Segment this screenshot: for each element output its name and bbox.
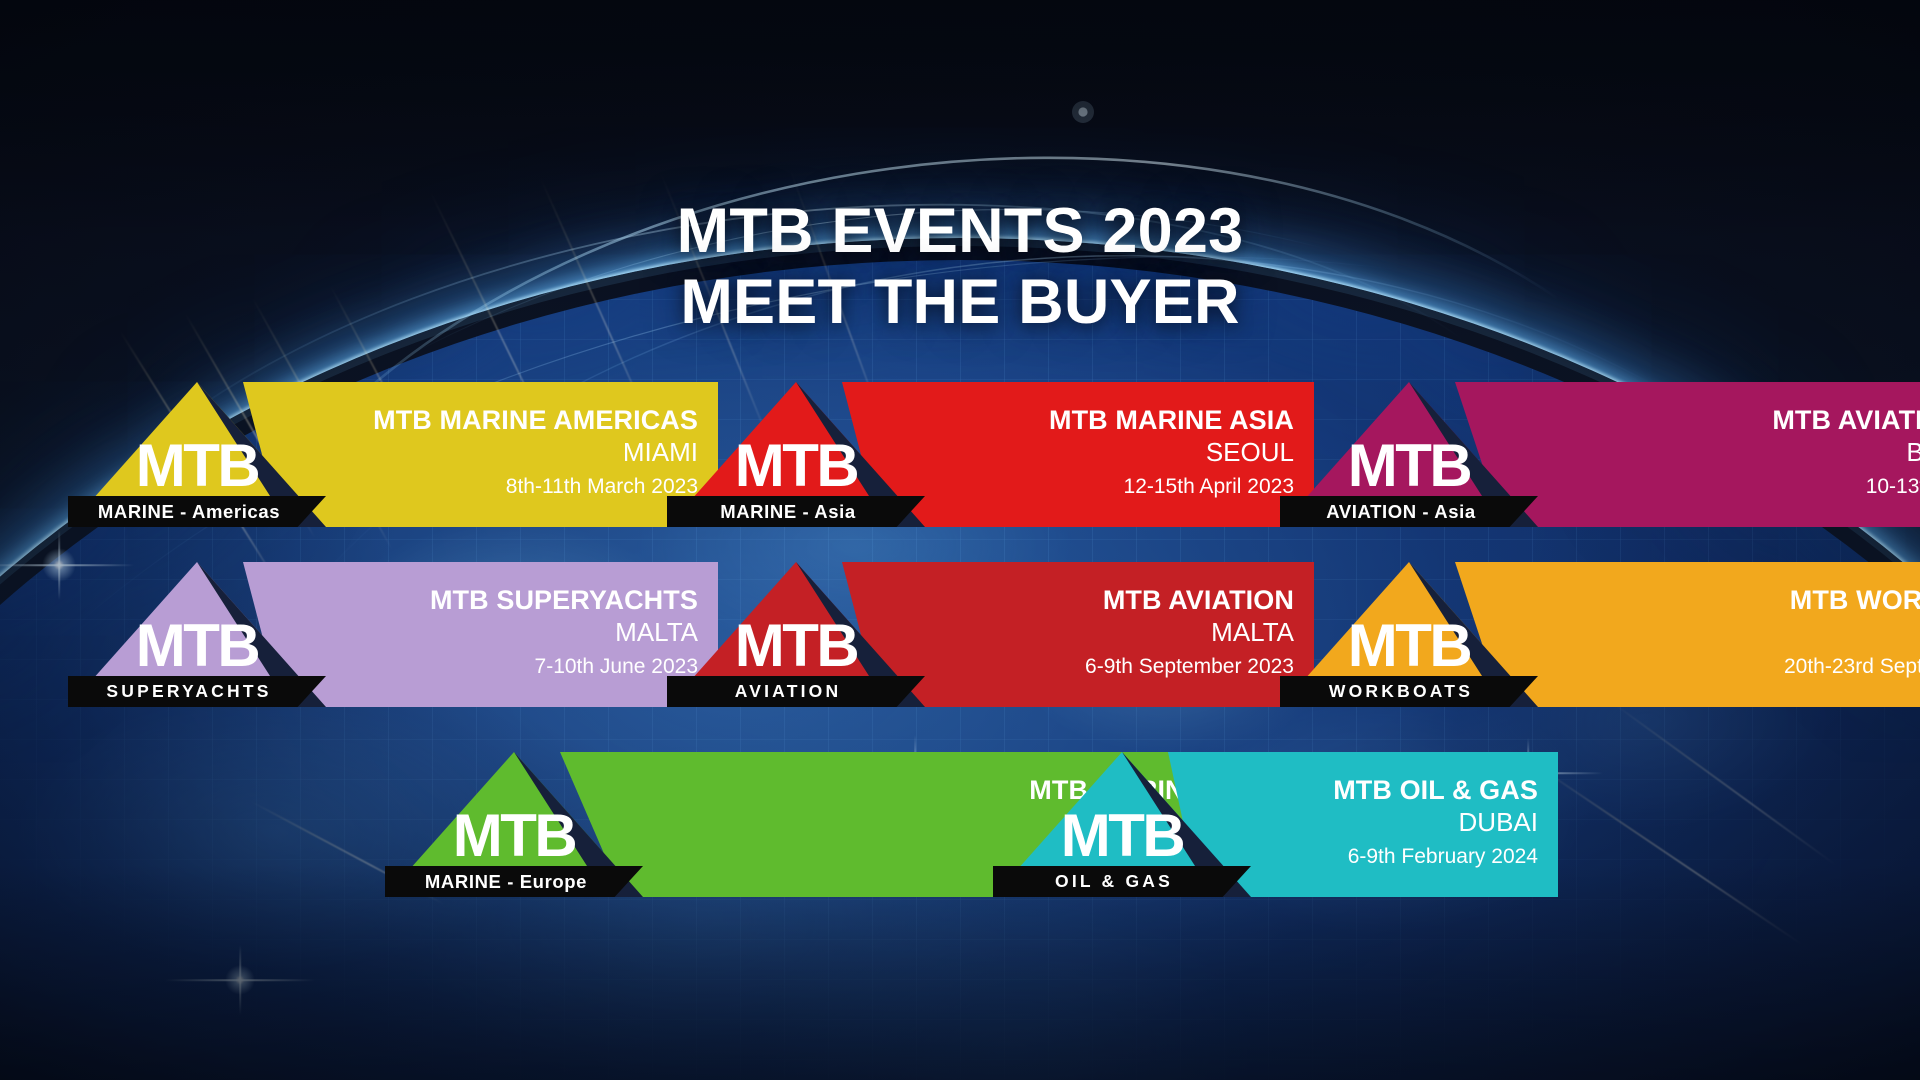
logo-subtitle: OIL & GAS — [1055, 871, 1189, 892]
event-logo[interactable]: MTB WORKBOATS — [1280, 562, 1538, 707]
event-name: MTB MARINE ASIA — [1049, 405, 1294, 435]
logo-subtitle: AVIATION - Asia — [1326, 501, 1491, 523]
logo-wordmark: MTB — [1280, 618, 1538, 673]
logo-wordmark: MTB — [667, 438, 925, 493]
event-name: MTB AVIATION ASIA — [1772, 405, 1920, 435]
logo-subtitle-bar: AVIATION - Asia — [1280, 496, 1538, 527]
logo-subtitle-bar: AVIATION — [667, 676, 925, 707]
logo-subtitle-bar: MARINE - Americas — [68, 496, 326, 527]
event-card-aviation-asia[interactable]: MTB AVIATION ASIA BANGKOK 10-13th May 20… — [1280, 382, 1920, 527]
event-logo[interactable]: MTB AVIATION — [667, 562, 925, 707]
logo-wordmark: MTB — [68, 618, 326, 673]
event-date: 20th-23rd September 2023 — [1784, 650, 1920, 684]
event-card-aviation[interactable]: MTB AVIATION MALTA 6-9th September 2023 … — [667, 562, 1314, 707]
event-card-superyachts[interactable]: MTB SUPERYACHTS MALTA 7-10th June 2023 M… — [68, 562, 718, 707]
event-logo[interactable]: MTB SUPERYACHTS — [68, 562, 326, 707]
event-name: MTB AVIATION — [1103, 585, 1294, 615]
event-logo[interactable]: MTB AVIATION - Asia — [1280, 382, 1538, 527]
logo-wordmark: MTB — [385, 808, 643, 863]
logo-subtitle: WORKBOATS — [1329, 681, 1489, 702]
event-card-marine-asia[interactable]: MTB MARINE ASIA SEOUL 12-15th April 2023… — [667, 382, 1314, 527]
title-line-2: MEET THE BUYER — [0, 267, 1920, 338]
logo-subtitle: MARINE - Europe — [425, 871, 603, 893]
event-city: DUBAI — [1459, 805, 1538, 840]
logo-wordmark: MTB — [993, 808, 1251, 863]
event-name: MTB MARINE AMERICAS — [373, 405, 698, 435]
logo-subtitle-bar: OIL & GAS — [993, 866, 1251, 897]
event-logo[interactable]: MTB MARINE - Asia — [667, 382, 925, 527]
logo-subtitle: AVIATION — [735, 681, 858, 702]
logo-subtitle-bar: MARINE - Asia — [667, 496, 925, 527]
logo-subtitle-bar: WORKBOATS — [1280, 676, 1538, 707]
event-date: 12-15th April 2023 — [1124, 470, 1294, 504]
event-name: MTB SUPERYACHTS — [430, 585, 698, 615]
title-line-1: MTB EVENTS 2023 — [677, 196, 1244, 266]
page-title: MTB EVENTS 2023 MEET THE BUYER — [0, 196, 1920, 337]
event-card-marine-americas[interactable]: MTB MARINE AMERICAS MIAMI 8th-11th March… — [68, 382, 718, 527]
logo-subtitle-bar: SUPERYACHTS — [68, 676, 326, 707]
event-logo[interactable]: MTB OIL & GAS — [993, 752, 1251, 897]
event-card-workboats[interactable]: MTB WORKBOATS DUBAI 20th-23rd September … — [1280, 562, 1920, 707]
event-logo[interactable]: MTB MARINE - Europe — [385, 752, 643, 897]
event-date: 10-13th May 2023 — [1866, 470, 1920, 504]
logo-subtitle: SUPERYACHTS — [106, 681, 287, 702]
poster-content: MTB EVENTS 2023 MEET THE BUYER MTB MARIN… — [0, 0, 1920, 1080]
logo-wordmark: MTB — [68, 438, 326, 493]
logo-subtitle: MARINE - Americas — [98, 501, 296, 523]
event-date: 6-9th February 2024 — [1348, 840, 1538, 874]
logo-subtitle-bar: MARINE - Europe — [385, 866, 643, 897]
event-city: BANGKOK — [1906, 435, 1920, 470]
logo-wordmark: MTB — [667, 618, 925, 673]
logo-wordmark: MTB — [1280, 438, 1538, 493]
event-date: 6-9th September 2023 — [1085, 650, 1294, 684]
event-name: MTB OIL & GAS — [1333, 775, 1538, 805]
event-logo[interactable]: MTB MARINE - Americas — [68, 382, 326, 527]
event-card-oil-and-gas[interactable]: MTB OIL & GAS DUBAI 6-9th February 2024 … — [993, 752, 1558, 897]
event-name: MTB WORKBOATS — [1790, 585, 1920, 615]
logo-subtitle: MARINE - Asia — [720, 501, 872, 523]
